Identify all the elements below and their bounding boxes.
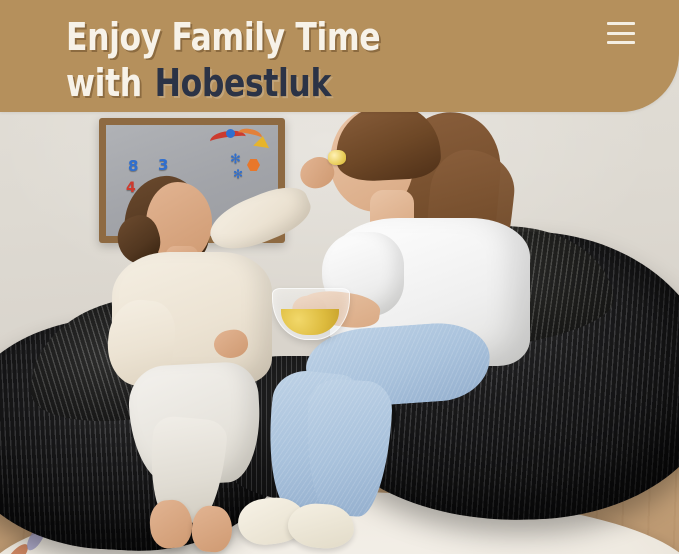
hamburger-menu-icon[interactable] — [607, 22, 635, 44]
page-root: 8 3 4 + 6 ✻ ✻ — [0, 0, 679, 554]
snack-popcorn — [281, 309, 339, 335]
hamburger-bar-2 — [607, 32, 635, 35]
headline-line-1: Enjoy Family Time — [66, 16, 498, 58]
hamburger-bar-1 — [607, 22, 635, 25]
promo-banner: Enjoy Family Time withHobestluk — [0, 0, 679, 112]
magnet-blue-dot — [226, 129, 235, 138]
hamburger-bar-3 — [607, 41, 635, 44]
magnet-8: 8 — [128, 159, 138, 174]
magnet-3: 3 — [158, 158, 168, 173]
snack-piece — [328, 150, 346, 165]
brand-name: Hobestluk — [155, 61, 331, 105]
headline-line-2: withHobestluk — [66, 62, 498, 104]
headline-with-word: with — [66, 61, 142, 105]
magnet-yellow-triangle — [253, 135, 271, 148]
banner-headline: Enjoy Family Time withHobestluk — [66, 16, 536, 104]
magnet-star-2: ✻ — [233, 168, 243, 180]
magnet-star-1: ✻ — [230, 153, 241, 166]
magnet-orange-hexagon — [247, 159, 260, 171]
